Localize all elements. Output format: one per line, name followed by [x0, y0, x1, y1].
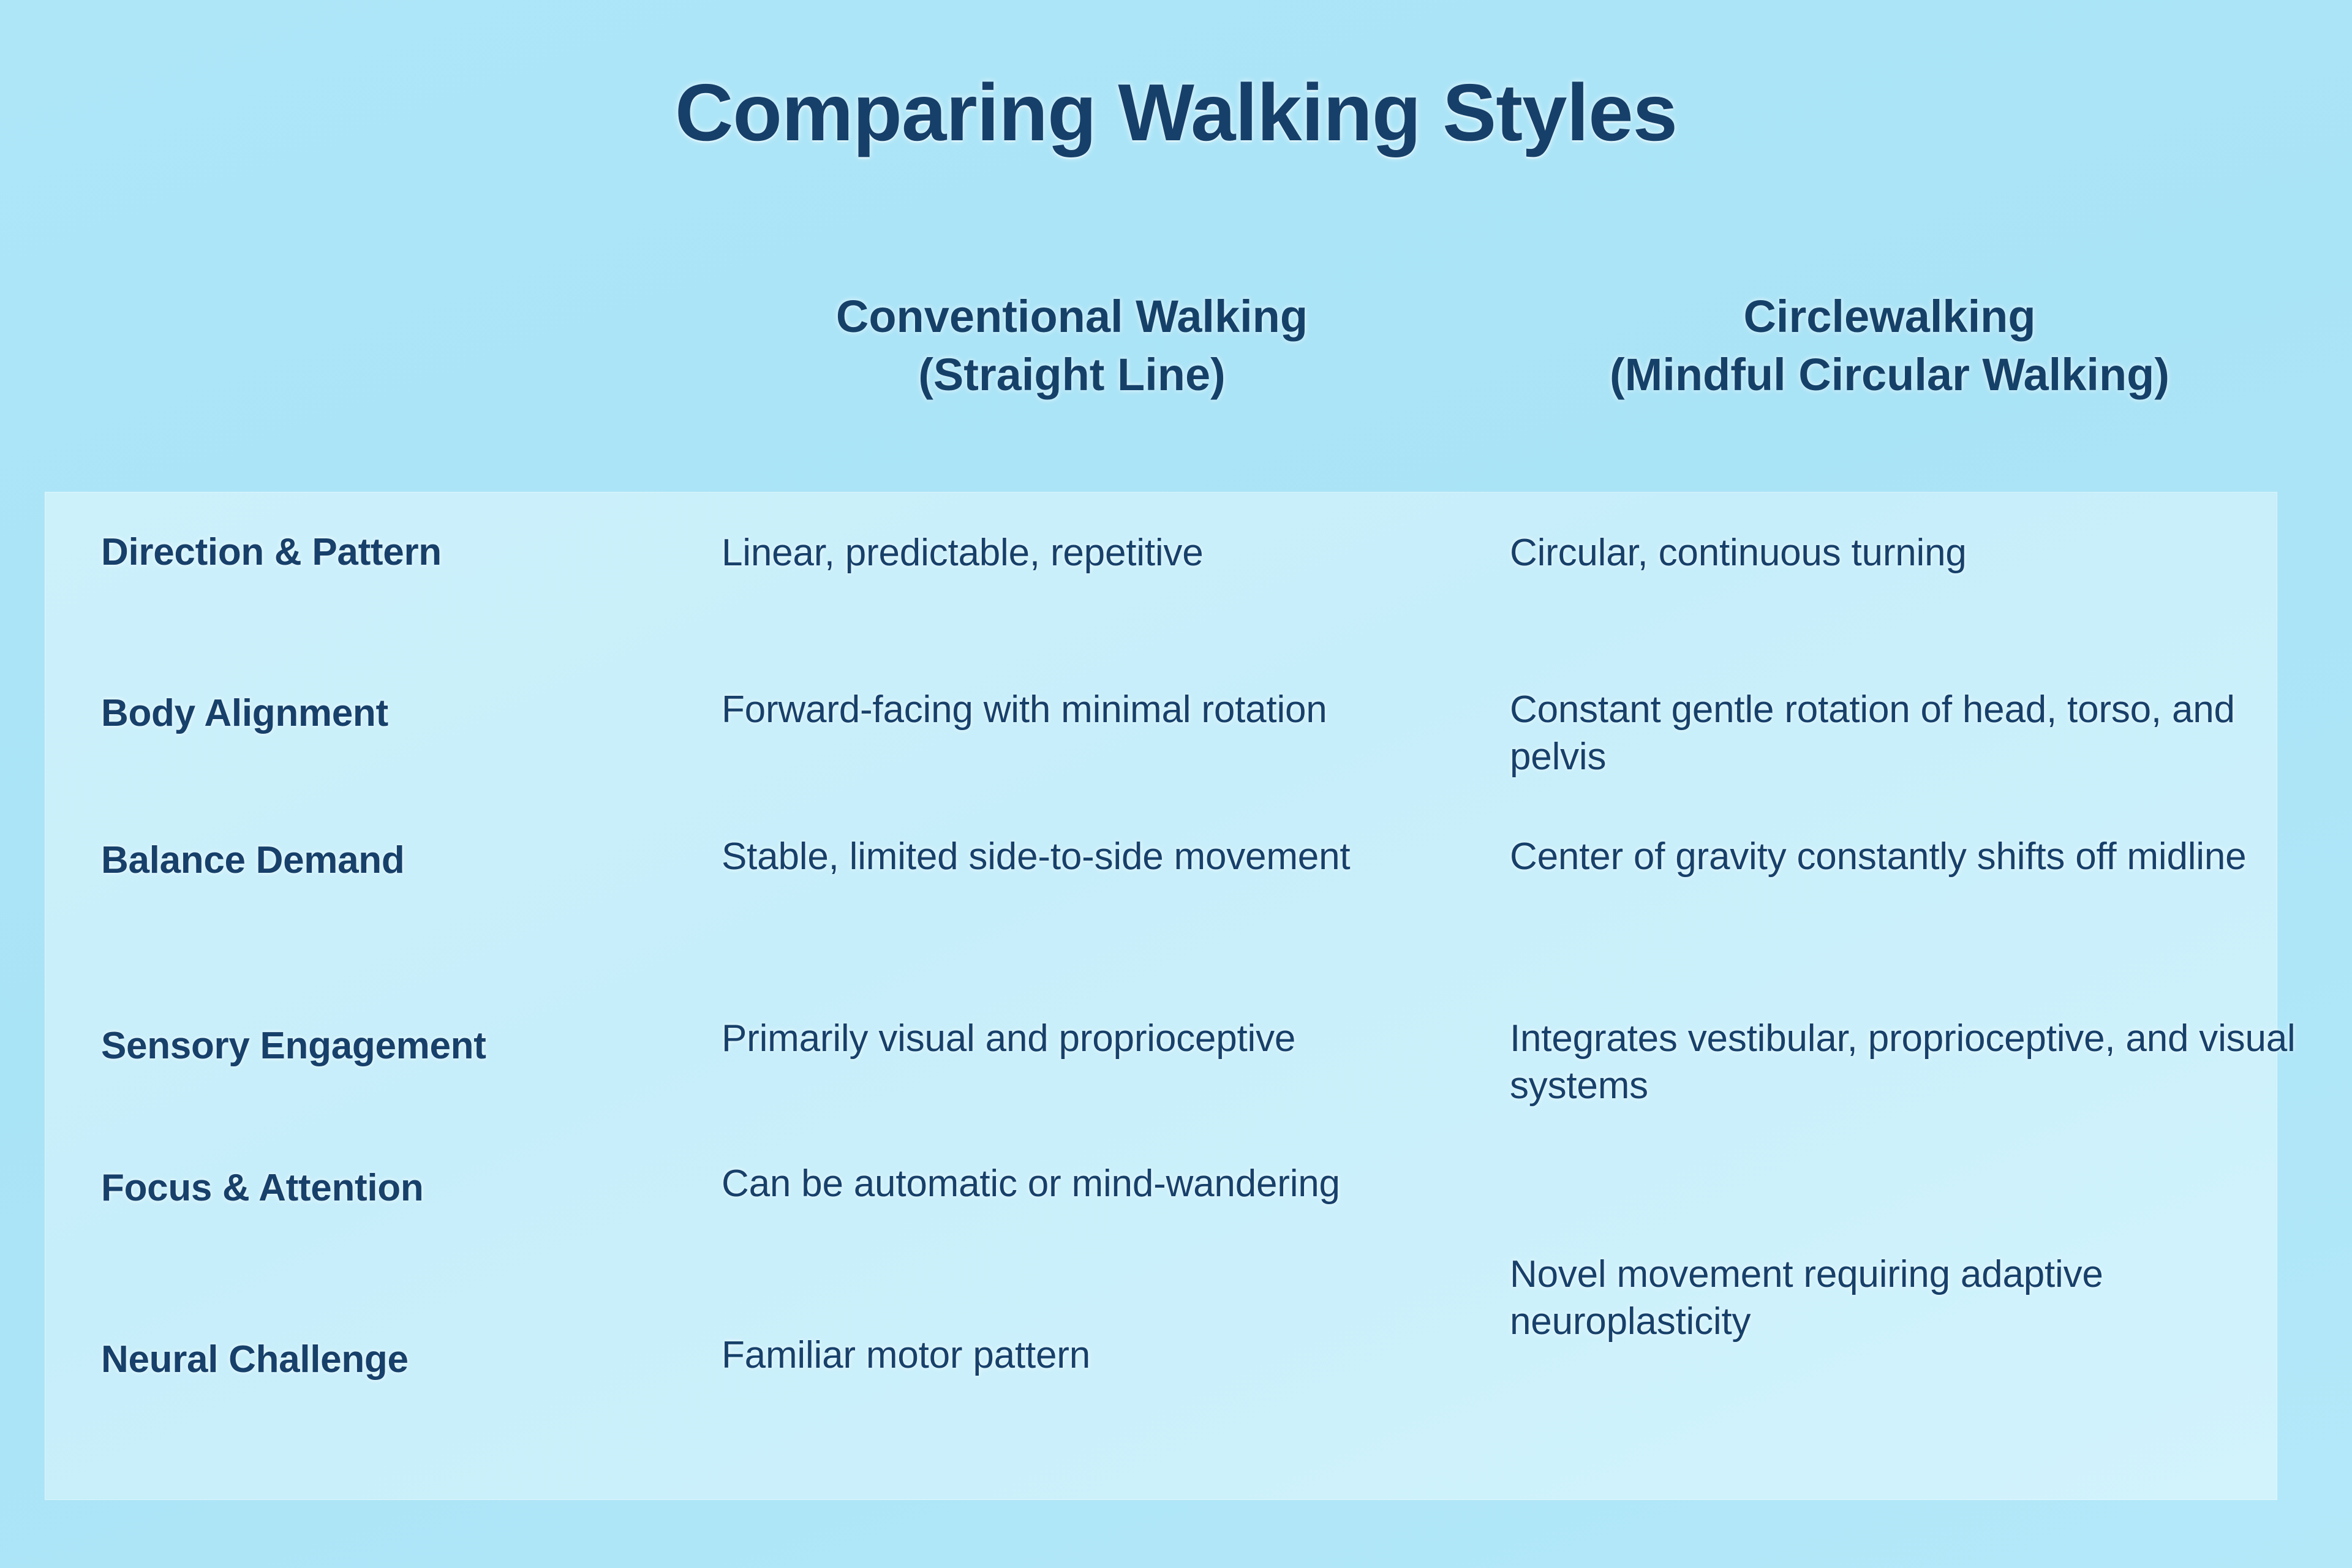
- cell-conventional-body-alignment: Forward-facing with minimal rotation: [722, 687, 1512, 734]
- row-label-balance-demand: Balance Demand: [101, 838, 732, 883]
- comparison-infographic: Comparing Walking Styles Conventional Wa…: [0, 0, 2352, 1568]
- column-header-line-1: Circlewalking: [1467, 288, 2312, 346]
- cell-circlewalking-body-alignment: Constant gentle rotation of head, torso,…: [1510, 687, 2324, 781]
- column-header-circlewalking: Circlewalking (Mindful Circular Walking): [1467, 288, 2312, 404]
- cell-conventional-balance-demand: Stable, limited side-to-side movement: [722, 834, 1512, 881]
- table-header-row: Conventional Walking (Straight Line) Cir…: [0, 288, 2352, 472]
- column-header-line-2: (Straight Line): [668, 346, 1476, 404]
- column-header-conventional-walking: Conventional Walking (Straight Line): [668, 288, 1476, 404]
- row-label-focus-attention: Focus & Attention: [101, 1166, 732, 1210]
- cell-conventional-focus-attention: Can be automatic or mind-wandering: [722, 1161, 1512, 1208]
- column-header-line-1: Conventional Walking: [668, 288, 1476, 346]
- column-header-line-2: (Mindful Circular Walking): [1467, 346, 2312, 404]
- page-title: Comparing Walking Styles: [0, 72, 2352, 153]
- cell-conventional-direction-pattern: Linear, predictable, repetitive: [722, 530, 1512, 577]
- comparison-table-panel: Direction & Pattern Body Alignment Balan…: [45, 492, 2277, 1500]
- row-label-body-alignment: Body Alignment: [101, 691, 732, 736]
- row-label-sensory-engagement: Sensory Engagement: [101, 1023, 732, 1068]
- cell-circlewalking-focus-attention: Novel movement requiring adaptive neurop…: [1510, 1251, 2324, 1346]
- cell-conventional-neural-challenge: Familiar motor pattern: [722, 1332, 1512, 1379]
- row-label-neural-challenge: Neural Challenge: [101, 1337, 732, 1382]
- row-label-direction-pattern: Direction & Pattern: [101, 530, 732, 575]
- cell-circlewalking-balance-demand: Center of gravity constantly shifts off …: [1510, 834, 2324, 881]
- cell-circlewalking-sensory-engagement: Integrates vestibular, proprioceptive, a…: [1510, 1016, 2324, 1110]
- cell-conventional-sensory-engagement: Primarily visual and proprioceptive: [722, 1016, 1512, 1063]
- cell-circlewalking-direction-pattern: Circular, continuous turning: [1510, 530, 2324, 577]
